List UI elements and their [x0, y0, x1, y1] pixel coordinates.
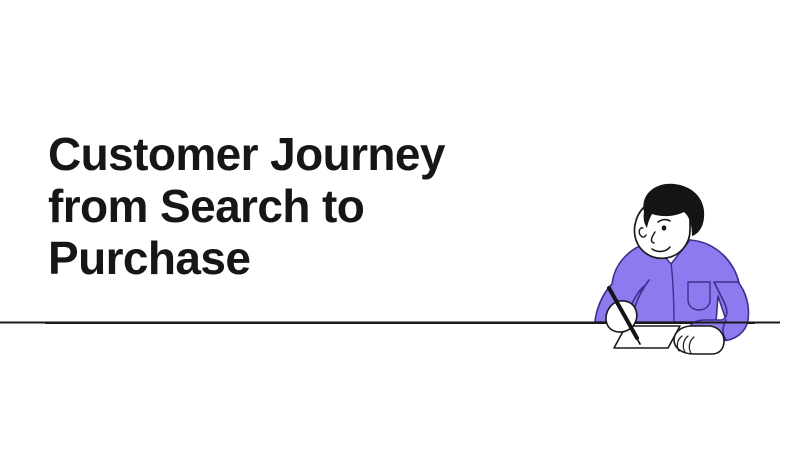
ear	[639, 228, 646, 237]
paper	[614, 326, 680, 348]
pen	[609, 288, 640, 344]
resting-hand	[674, 326, 724, 354]
title-block: Customer Journey from Search to Purchase	[48, 128, 548, 284]
writing-hand	[606, 301, 637, 334]
shirt-body	[598, 238, 746, 326]
right-arm	[689, 282, 749, 341]
face	[635, 196, 691, 259]
mouth	[652, 247, 670, 251]
eyebrow	[658, 220, 670, 222]
hair	[643, 184, 704, 236]
shirt-placket	[671, 262, 674, 322]
slide-canvas: Customer Journey from Search to Purchase	[0, 0, 800, 450]
shirt-pocket	[688, 282, 710, 310]
horizontal-rule	[45, 322, 755, 324]
illustration-svg	[540, 170, 780, 370]
page-title: Customer Journey from Search to Purchase	[48, 128, 548, 284]
person-writing-at-desk-illustration	[540, 170, 780, 370]
head	[635, 184, 705, 259]
nose	[651, 232, 655, 243]
collar	[652, 236, 690, 264]
left-arm	[595, 280, 649, 322]
eye	[662, 225, 667, 230]
